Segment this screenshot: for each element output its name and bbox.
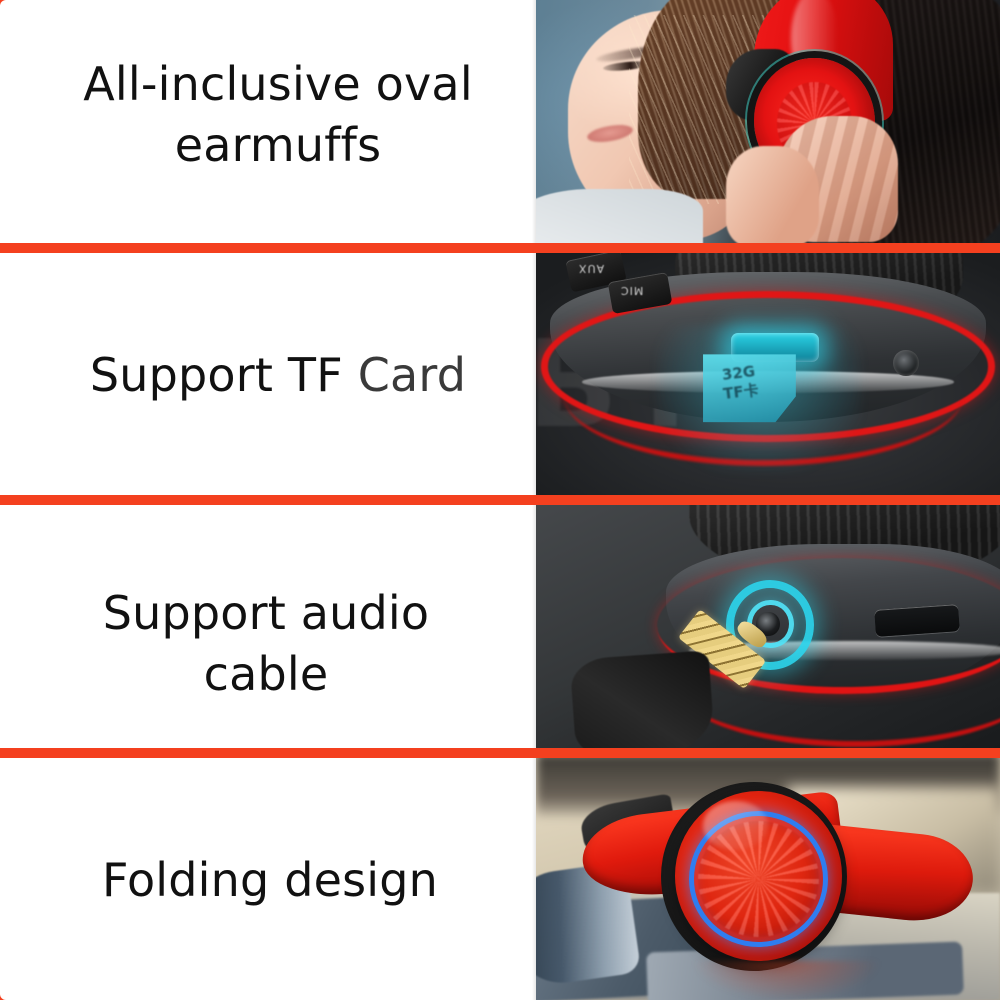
feature-infographic: All-inclusive oval earmuffs	[0, 0, 1000, 1000]
photo-canvas	[536, 0, 1000, 243]
earcup-sheen	[703, 801, 768, 850]
feature-label-line-1: Support audio cable	[103, 586, 430, 701]
feature-label: Folding design	[102, 850, 438, 911]
aux-cable-jack-photo	[536, 505, 1000, 748]
feature-label-line-2: earmuffs	[175, 118, 382, 172]
audio-jack-hole	[893, 350, 919, 377]
audio-cable-shape	[570, 651, 716, 748]
feature-label-soft-word: Card	[358, 348, 466, 402]
feature-label-line-1: All-inclusive oval	[83, 57, 473, 111]
feature-text-cell: All-inclusive oval earmuffs	[0, 0, 536, 243]
feature-label-line-1: Folding design	[102, 853, 438, 907]
tf-card-slot-photo: BT AUX MIC 32G TF卡	[536, 253, 1000, 496]
feature-label: Support TF Card	[90, 345, 466, 406]
feature-label-line-1: Support TF Card	[90, 348, 466, 402]
feature-row-folding-design: Folding design	[0, 758, 1000, 1000]
feature-label: All-inclusive oval earmuffs	[83, 54, 473, 176]
shoulder-shape	[536, 189, 703, 242]
photo-canvas: BT AUX MIC 32G TF卡	[536, 253, 1000, 496]
folded-headphones-photo	[536, 758, 1000, 1000]
feature-row-tf-card: Support TF Card BT AUX MIC 32G TF	[0, 253, 1000, 506]
photo-canvas	[536, 758, 1000, 1000]
micro-sd-card-label: 32G TF卡	[719, 362, 759, 404]
charging-port-shape	[874, 604, 959, 636]
photo-canvas	[536, 505, 1000, 748]
feature-text-cell: Support audio cable	[0, 505, 536, 748]
port-label-mic: MIC	[620, 284, 643, 297]
feature-row-oval-earmuffs: All-inclusive oval earmuffs	[0, 0, 1000, 253]
fingers-shape	[726, 146, 819, 243]
earcup-reflection	[694, 961, 880, 1000]
girl-wearing-red-headphones-photo	[536, 0, 1000, 243]
feature-label: Support audio cable	[46, 583, 486, 705]
port-label-aux: AUX	[578, 262, 604, 275]
feature-text-cell: Support TF Card	[0, 253, 536, 496]
card-type-text: TF卡	[722, 381, 759, 403]
feature-text-cell: Folding design	[0, 758, 536, 1000]
feature-row-audio-cable: Support audio cable	[0, 505, 1000, 758]
